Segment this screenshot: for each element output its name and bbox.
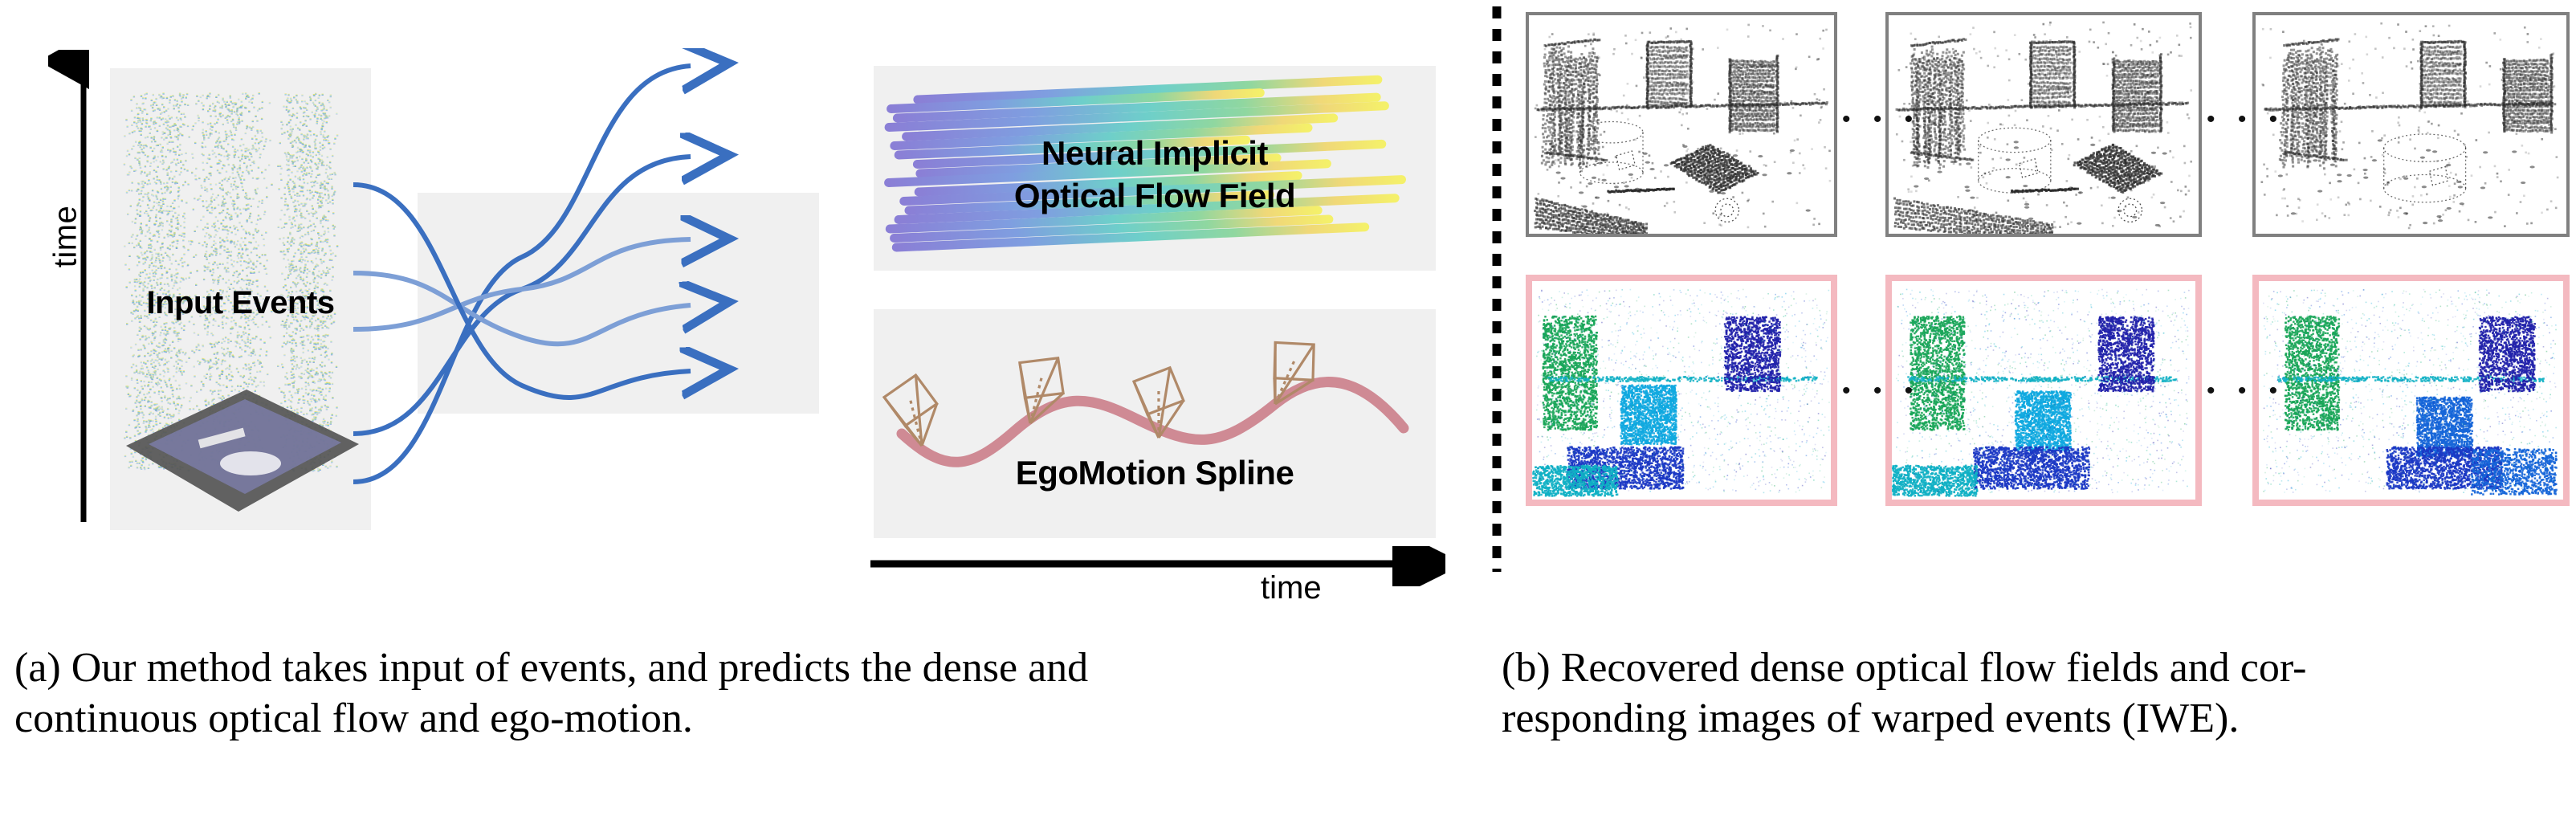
egomotion-spline-panel [874, 309, 1436, 538]
raw-event-frame-2 [1885, 12, 2202, 237]
input-events-label: Input Events [110, 285, 371, 321]
iwe-frame-1 [1526, 275, 1837, 506]
connector-curves [353, 48, 899, 562]
caption-b-line1: (b) Recovered dense optical flow fields … [1502, 643, 2570, 693]
iwe-row-ellipsis-1: • • • [1842, 377, 1921, 405]
raw-event-frame-1 [1526, 12, 1837, 237]
horizontal-time-axis-label: time [1261, 570, 1421, 606]
iwe-frame-2 [1885, 275, 2202, 506]
egomotion-spline-label: EgoMotion Spline [874, 454, 1436, 492]
iwe-frame-3 [2252, 275, 2570, 506]
raw-row-ellipsis-2: • • • [2207, 106, 2285, 133]
caption-a-line2: continuous optical flow and ego-motion. [14, 693, 1492, 744]
panel-divider [1490, 0, 1503, 578]
flow-field-label-line2: Optical Flow Field [1014, 177, 1295, 214]
caption-a-line1: (a) Our method takes input of events, an… [14, 643, 1492, 693]
caption-b-line2: responding images of warped events (IWE)… [1502, 693, 2570, 744]
caption-b: (b) Recovered dense optical flow fields … [1502, 643, 2570, 745]
raw-row-ellipsis-1: • • • [1842, 106, 1921, 133]
vertical-time-axis-label: time [48, 189, 84, 285]
optical-flow-field-label: Neural Implicit Optical Flow Field [874, 133, 1436, 217]
flow-field-label-line1: Neural Implicit [1041, 134, 1268, 172]
figure-canvas: time [0, 0, 2576, 610]
iwe-row-ellipsis-2: • • • [2207, 377, 2285, 405]
raw-event-frame-3 [2252, 12, 2570, 237]
vertical-time-axis: time [48, 50, 96, 524]
caption-a: (a) Our method takes input of events, an… [14, 643, 1492, 745]
